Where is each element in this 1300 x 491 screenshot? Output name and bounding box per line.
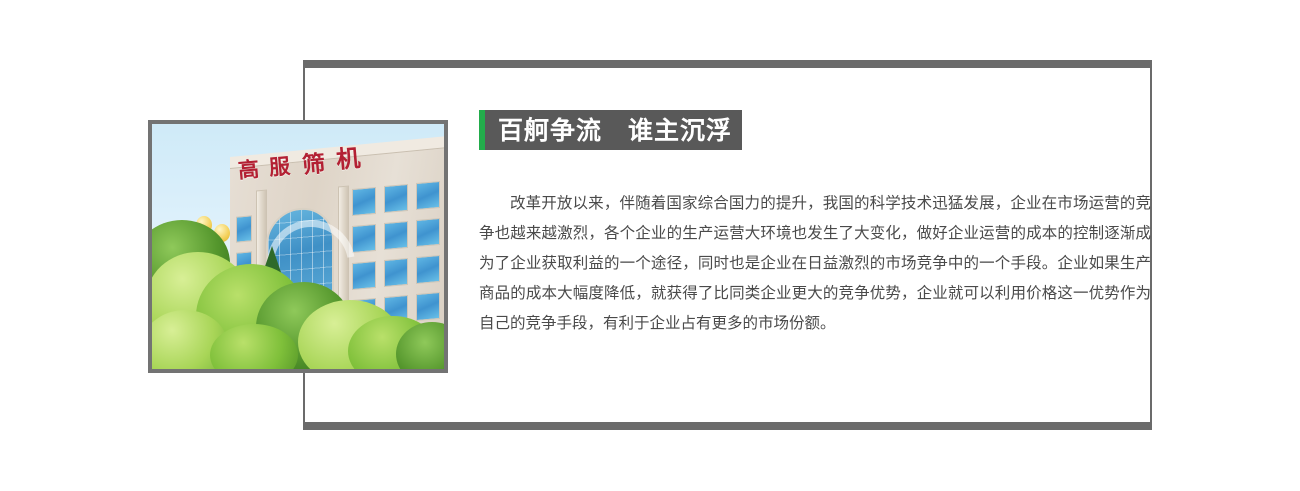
roof-sign-char-1: 高 (237, 153, 261, 185)
window (236, 215, 252, 242)
roof-sign-char-3: 筛 (301, 144, 327, 180)
roof-sign-char-2: 服 (268, 150, 292, 182)
window (384, 221, 408, 250)
photo-image: 高 服 筛 机 GAOFU 高服 (152, 124, 444, 369)
window (352, 261, 376, 290)
window (416, 292, 440, 321)
window (416, 181, 440, 210)
window (384, 258, 408, 287)
building-pillar (338, 186, 349, 303)
window (352, 187, 376, 216)
roof-sign-char-4: 机 (335, 138, 362, 175)
window (352, 224, 376, 253)
frame-bottom-border (303, 422, 1152, 430)
window (384, 184, 408, 213)
frame-top-border (303, 60, 1152, 68)
window (416, 255, 440, 284)
article-paragraph: 改革开放以来，伴随着国家综合国力的提升，我国的科学技术迅猛发展，企业在市场运营的… (479, 188, 1151, 338)
company-photo: 高 服 筛 机 GAOFU 高服 (148, 120, 448, 373)
section-title-text: 百舸争流 谁主沉浮 (485, 118, 732, 143)
section-title: 百舸争流 谁主沉浮 (479, 110, 742, 150)
page-root: 高 服 筛 机 GAOFU 高服 (0, 0, 1300, 491)
window (416, 218, 440, 247)
